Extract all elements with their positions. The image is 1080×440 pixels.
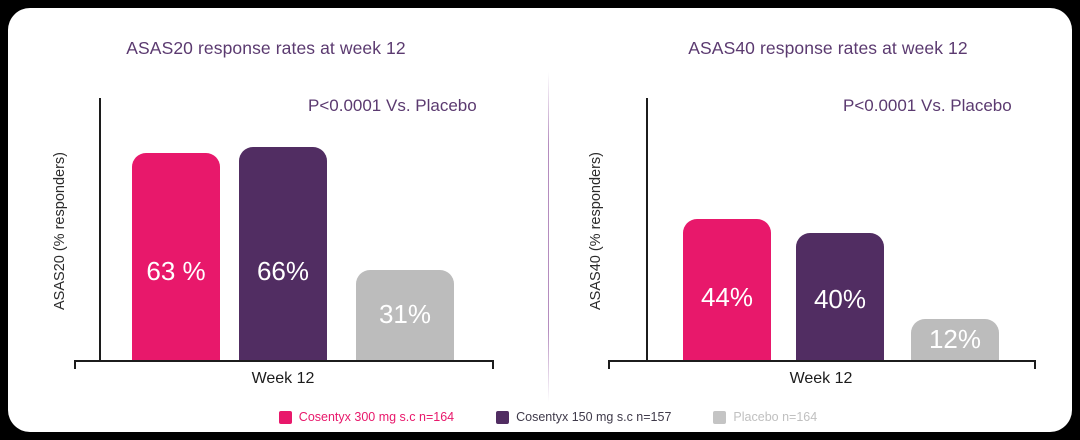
x-axis-tick-start [608, 360, 610, 369]
x-axis-tick-end [1034, 360, 1036, 369]
x-axis-line [608, 360, 1036, 362]
bar-value-label: 66% [239, 256, 327, 287]
legend-item-label: Cosentyx 150 mg s.c n=157 [516, 410, 671, 424]
plot-area-asas20: 63 % 66% 31% Week 12 [8, 8, 548, 432]
y-axis-line [99, 98, 101, 360]
bar-asas20-placebo[interactable]: 31% [356, 270, 454, 360]
bar-asas40-cosentyx-150[interactable]: 40% [796, 233, 884, 360]
plot-area-asas40: 44% 40% 12% Week 12 [548, 8, 1072, 432]
bar-value-label: 44% [683, 282, 771, 313]
legend-item-label: Placebo n=164 [733, 410, 817, 424]
legend-swatch-icon [713, 411, 726, 424]
legend-item-cosentyx-300[interactable]: Cosentyx 300 mg s.c n=164 [279, 410, 454, 424]
bar-value-label: 63 % [132, 256, 220, 287]
legend-item-label: Cosentyx 300 mg s.c n=164 [299, 410, 454, 424]
legend-item-placebo[interactable]: Placebo n=164 [713, 410, 817, 424]
x-axis-tick-end [492, 360, 494, 369]
bar-value-label: 31% [356, 299, 454, 330]
x-axis-category-label: Week 12 [741, 370, 901, 388]
bar-value-label: 12% [911, 324, 999, 355]
legend-swatch-icon [496, 411, 509, 424]
bar-value-label: 40% [796, 284, 884, 315]
bar-asas40-cosentyx-300[interactable]: 44% [683, 219, 771, 360]
chart-panel-asas20: ASAS20 response rates at week 12 P<0.000… [8, 8, 548, 432]
chart-legend: Cosentyx 300 mg s.c n=164 Cosentyx 150 m… [8, 410, 1072, 424]
x-axis-tick-start [74, 360, 76, 369]
page-root: ASAS20 response rates at week 12 P<0.000… [0, 0, 1080, 440]
x-axis-line [74, 360, 494, 362]
y-axis-line [646, 98, 648, 360]
chart-panel-asas40: ASAS40 response rates at week 12 P<0.000… [548, 8, 1072, 432]
bar-asas20-cosentyx-150[interactable]: 66% [239, 147, 327, 360]
legend-item-cosentyx-150[interactable]: Cosentyx 150 mg s.c n=157 [496, 410, 671, 424]
bar-asas40-placebo[interactable]: 12% [911, 319, 999, 360]
x-axis-category-label: Week 12 [203, 370, 363, 388]
bar-asas20-cosentyx-300[interactable]: 63 % [132, 153, 220, 360]
chart-card: ASAS20 response rates at week 12 P<0.000… [8, 8, 1072, 432]
legend-swatch-icon [279, 411, 292, 424]
